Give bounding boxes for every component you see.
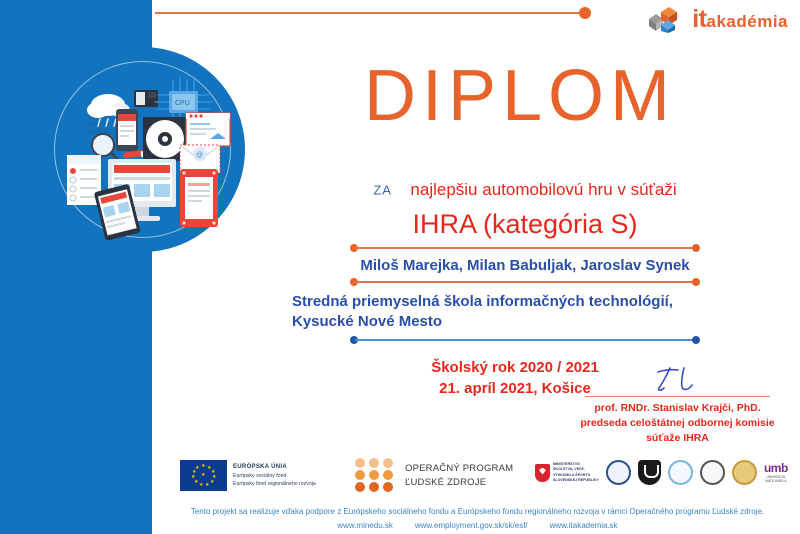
signature-rule: [585, 396, 770, 397]
divider-dot-right: [692, 244, 700, 252]
operational-program-logo: OPERAČNÝ PROGRAM ĽUDSKÉ ZDROJE: [355, 458, 513, 494]
footer-disclaimer: Tento projekt sa realizuje vďaka podpore…: [155, 505, 800, 519]
za-label: ZA: [373, 183, 392, 198]
op-people-dots-icon: [355, 458, 397, 494]
ministry-logo: MINISTERSTVO ŠKOLSTVA, VEDY, VÝSKUMU A Š…: [535, 462, 599, 483]
school-name-line1: Stredná priemyselná škola informačných t…: [292, 292, 795, 312]
partner-logos: MINISTERSTVO ŠKOLSTVA, VEDY, VÝSKUMU A Š…: [535, 460, 788, 485]
eu-logo-text: EURÓPSKA ÚNIA Európsky sociálny fond Eur…: [233, 463, 316, 488]
footer-links: www.minedu.sk www.employment.gov.sk/sk/e…: [155, 519, 800, 533]
divider-orange-bottom: [350, 281, 700, 283]
footer-link-itakademia[interactable]: www.itakademia.sk: [550, 519, 618, 533]
umb-subtitle: UNIVERZITA MATEJA BELA: [765, 475, 786, 483]
eu-logo-line1: Európsky sociálny fond: [233, 472, 316, 480]
logo-it-text: it: [692, 5, 706, 33]
diploma-page: 101101 011010 110011: [0, 0, 800, 534]
eu-logo-title: EURÓPSKA ÚNIA: [233, 463, 316, 472]
certificate-body: DIPLOM ZA najlepšiu automobilovú hru v s…: [255, 60, 795, 399]
signatory-info: prof. RNDr. Stanislav Krajči, PhD. preds…: [565, 401, 790, 447]
it-devices-circle-illustration: 101101 011010 110011: [40, 47, 245, 252]
divider-line: [355, 247, 695, 249]
it-akademia-cubes-icon: [647, 5, 687, 33]
university-seal-icon-4: [700, 460, 725, 485]
svg-text:CPU: CPU: [175, 100, 190, 107]
divider-line: [355, 281, 695, 283]
university-seal-icon-2: [638, 460, 661, 485]
op-logo-line1: OPERAČNÝ PROGRAM: [405, 462, 513, 476]
winners-names: Miloš Marejka, Milan Babuljak, Jaroslav …: [255, 257, 795, 274]
eu-logo-line2: Európsky fond regionálneho rozvoja: [233, 480, 316, 488]
divider-orange-top: [350, 247, 700, 249]
op-logo-text: OPERAČNÝ PROGRAM ĽUDSKÉ ZDROJE: [405, 462, 513, 490]
eu-flag-icon: ★ ★ ★ ★ ★ ★ ★ ★ ★ ★ ★ ★: [180, 460, 227, 491]
svg-text:@: @: [196, 152, 203, 159]
footer-text: Tento projekt sa realizuje vďaka podpore…: [155, 505, 800, 533]
signatory-name: prof. RNDr. Stanislav Krajči, PhD.: [565, 401, 790, 416]
footer-link-minedu[interactable]: www.minedu.sk: [337, 519, 393, 533]
slovak-coat-of-arms-icon: [535, 464, 550, 482]
divider-dot-right: [692, 278, 700, 286]
umb-logo: umb UNIVERZITA MATEJA BELA: [764, 462, 788, 483]
university-seal-icon-1: [606, 460, 631, 485]
op-logo-line2: ĽUDSKÉ ZDROJE: [405, 476, 513, 490]
divider-blue: [350, 339, 700, 341]
logo-akademia-text: akadémia: [707, 12, 789, 31]
ministry-logo-text: MINISTERSTVO ŠKOLSTVA, VEDY, VÝSKUMU A Š…: [553, 462, 599, 483]
footer-logos: ★ ★ ★ ★ ★ ★ ★ ★ ★ ★ ★ ★ EURÓPSKA ÚNIA Eu…: [155, 456, 800, 500]
footer-link-employment[interactable]: www.employment.gov.sk/sk/esf/: [415, 519, 528, 533]
page-title: DIPLOM: [245, 60, 795, 132]
umb-sub-line2: MATEJA BELA: [765, 479, 786, 483]
signatory-role-line1: predseda celoštátnej odbornej komisie: [565, 416, 790, 431]
university-seal-icon-3: [668, 460, 693, 485]
eu-logo: ★ ★ ★ ★ ★ ★ ★ ★ ★ ★ ★ ★ EURÓPSKA ÚNIA Eu…: [180, 460, 316, 491]
divider-line: [355, 339, 695, 341]
signature-mark: [565, 364, 790, 394]
award-reason-row: ZA najlepšiu automobilovú hru v súťaži: [255, 180, 795, 200]
award-category: IHRA (kategória S): [255, 210, 795, 240]
school-name: Stredná priemyselná škola informačných t…: [255, 292, 795, 333]
ministry-line4: SLOVENSKEJ REPUBLIKY: [553, 478, 599, 483]
signatory-role-line2: súťaže IHRA: [565, 431, 790, 446]
it-akademia-logo: itakadémia: [647, 3, 788, 35]
school-name-line2: Kysucké Nové Mesto: [292, 312, 795, 332]
signature-block: prof. RNDr. Stanislav Krajči, PhD. preds…: [565, 364, 790, 447]
award-reason-text: najlepšiu automobilovú hru v súťaži: [410, 180, 676, 199]
top-rule-dot: [579, 7, 591, 19]
top-decorative-rule: [155, 12, 585, 14]
umb-wordmark: umb: [764, 462, 788, 474]
signature-handwriting-icon: [648, 366, 708, 394]
university-seal-icon-5: [732, 460, 757, 485]
divider-dot-right: [692, 336, 700, 344]
it-akademia-wordmark: itakadémia: [692, 7, 788, 32]
